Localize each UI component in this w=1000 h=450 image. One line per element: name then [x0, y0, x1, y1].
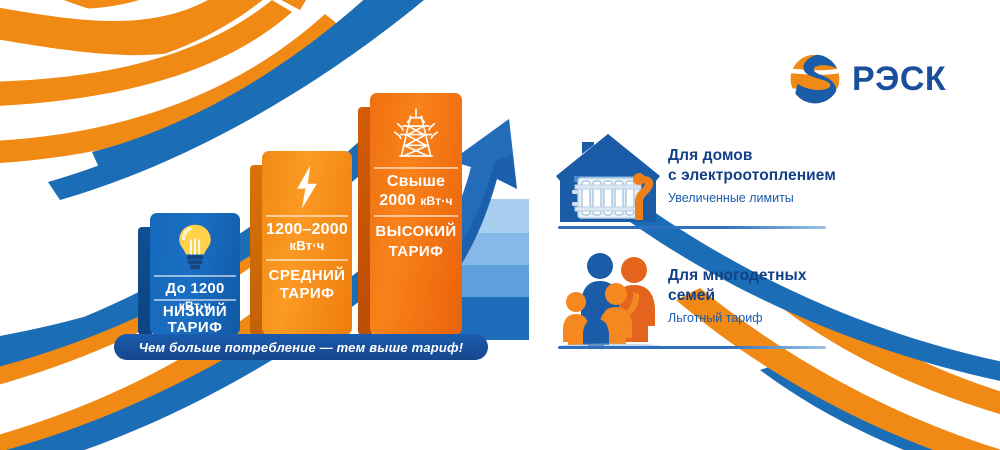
bar-amount: 1200–2000 [262, 221, 352, 239]
lightning-bolt-icon [262, 161, 352, 213]
bar-high-tariff: Свыше 2000 кВт·ч ВЫСОКИЙ ТАРИФ [370, 93, 462, 335]
tariff-bar-chart: До 1200 кВт·ч НИЗКИЙ ТАРИФ 1200–2000 кВт… [105, 85, 545, 335]
bar-divider-2 [266, 259, 349, 261]
bar-low-tariff: До 1200 кВт·ч НИЗКИЙ ТАРИФ [150, 213, 240, 335]
bar-front-face: Свыше 2000 кВт·ч ВЫСОКИЙ ТАРИФ [370, 93, 462, 335]
sphere-ribbon-logo-icon [786, 50, 844, 108]
feature-large-families: Для многодетных семей Льготный тариф [556, 252, 946, 362]
bar-front-face: 1200–2000 кВт·ч СРЕДНИЙ ТАРИФ [262, 151, 352, 335]
logo-wordmark: РЭСК [852, 62, 946, 96]
feature-heading-line1: Для многодетных [668, 266, 946, 286]
feature-subtitle: Льготный тариф [668, 311, 946, 327]
bar-divider [266, 215, 349, 217]
bar-amount: Свыше [370, 173, 462, 191]
bar-divider [154, 275, 237, 277]
tagline-banner: Чем больше потребление — тем выше тариф! [114, 334, 488, 360]
infographic-canvas: РЭСК [0, 0, 1000, 450]
power-pylon-icon [370, 101, 462, 165]
feature-divider [558, 346, 826, 349]
feature-heading-line1: Для домов [668, 146, 946, 166]
bar-medium-tariff: 1200–2000 кВт·ч СРЕДНИЙ ТАРИФ [262, 151, 352, 335]
bar-amount-unit: кВт·ч [262, 239, 352, 254]
feature-heading-line2: семей [668, 286, 946, 306]
bar-front-face: До 1200 кВт·ч НИЗКИЙ ТАРИФ [150, 213, 240, 335]
bar-tier-line2: ТАРИФ [370, 243, 462, 261]
feature-text: Для домов с электроотоплением Увеличенны… [668, 146, 946, 207]
feature-electric-heating: Для домов с электроотоплением Увеличенны… [556, 132, 946, 242]
bar-divider-2 [374, 215, 459, 217]
bar-amount-2: 2000 кВт·ч [370, 192, 462, 210]
brand-logo[interactable]: РЭСК [786, 48, 936, 110]
tagline-text: Чем больше потребление — тем выше тариф! [139, 340, 464, 355]
bar-divider [374, 167, 459, 169]
feature-divider [558, 226, 826, 229]
bar-tier-line1: СРЕДНИЙ [262, 267, 352, 285]
feature-text: Для многодетных семей Льготный тариф [668, 266, 946, 327]
bar-tier-line2: ТАРИФ [150, 319, 240, 335]
house-with-radiator-icon [556, 132, 664, 228]
bar-tier-line2: ТАРИФ [262, 285, 352, 303]
family-group-icon [556, 252, 664, 348]
lightbulb-icon [150, 221, 240, 273]
feature-heading-line2: с электроотоплением [668, 166, 946, 186]
bar-divider-2 [154, 299, 237, 301]
feature-subtitle: Увеличенные лимиты [668, 191, 946, 207]
bar-tier-line1: ВЫСОКИЙ [370, 223, 462, 241]
